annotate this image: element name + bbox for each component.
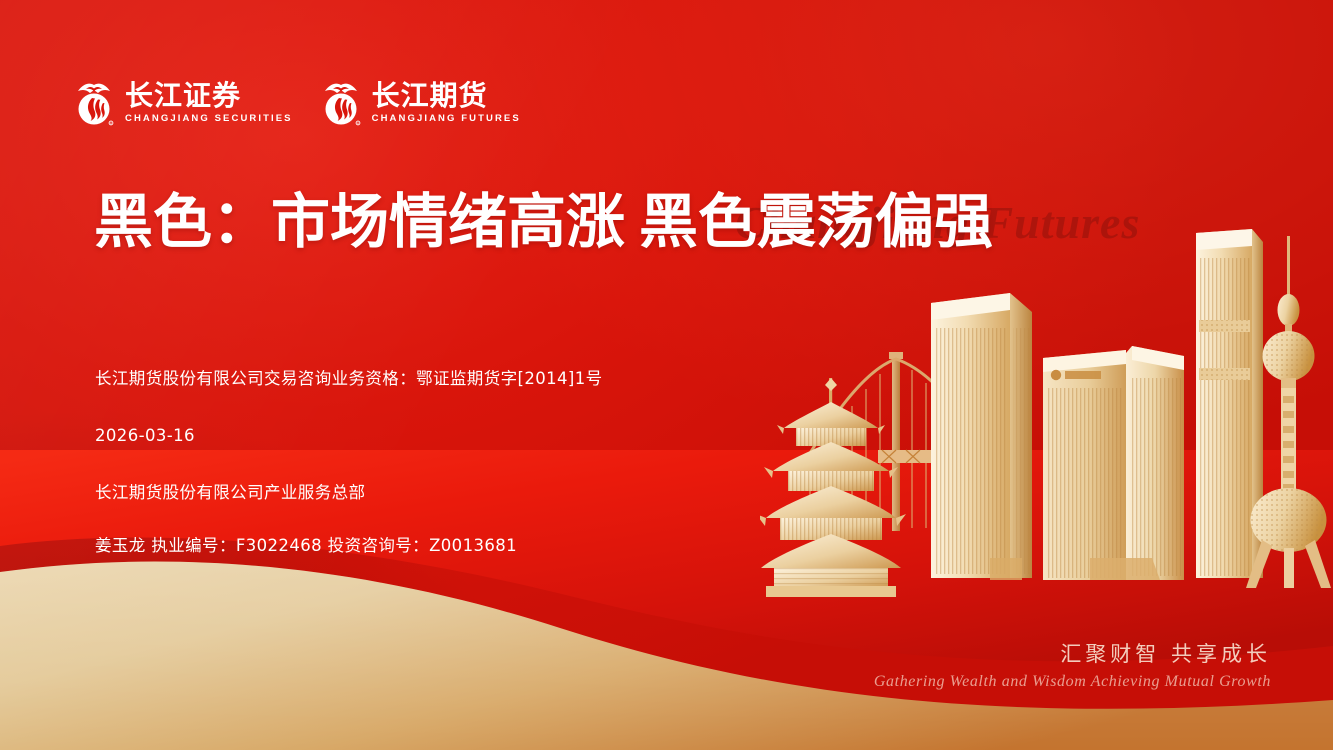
logo-name-en: CHANGJIANG FUTURES xyxy=(372,113,521,125)
slogan-en: Gathering Wealth and Wisdom Achieving Mu… xyxy=(874,670,1271,694)
changjiang-emblem-icon: R xyxy=(72,80,116,126)
slogan-cn: 汇聚财智 共享成长 xyxy=(874,640,1271,668)
building-logo-emblem xyxy=(1051,370,1101,380)
svg-text:R: R xyxy=(357,121,359,125)
logo-changjiang-securities[interactable]: R 长江证券 CHANGJIANG SECURITIES xyxy=(72,80,293,126)
logo-name-en: CHANGJIANG SECURITIES xyxy=(125,113,293,125)
svg-text:R: R xyxy=(110,121,112,125)
presentation-cover-slide: Changjiang Futures xyxy=(0,0,1333,750)
city-skyline-illustration xyxy=(760,228,1333,608)
logo-name-cn: 长江期货 xyxy=(372,81,521,110)
logo-text-group: 长江证券 CHANGJIANG SECURITIES xyxy=(125,81,293,125)
title-line-secondary: 黑色震荡偏强 xyxy=(639,186,993,258)
report-info-block: 长江期货股份有限公司交易咨询业务资格：鄂证监期货字[2014]1号 2026-0… xyxy=(95,368,795,557)
tower-mid-emblem xyxy=(1043,350,1126,580)
logo-text-group: 长江期货 CHANGJIANG FUTURES xyxy=(372,81,521,125)
report-date: 2026-03-16 xyxy=(95,425,795,447)
page-title: 黑色：市场情绪高涨 黑色震荡偏强 xyxy=(94,186,1154,262)
analyst-line: 姜玉龙 执业编号：F3022468 投资咨询号：Z0013681 xyxy=(95,535,795,557)
changjiang-emblem-icon: R xyxy=(319,80,363,126)
tower-left-tall xyxy=(931,293,1032,580)
logo-name-cn: 长江证券 xyxy=(125,81,293,110)
title-line-primary: 黑色：市场情绪高涨 xyxy=(94,186,625,258)
qualification-line: 长江期货股份有限公司交易咨询业务资格：鄂证监期货字[2014]1号 xyxy=(95,368,795,390)
logo-changjiang-futures[interactable]: R 长江期货 CHANGJIANG FUTURES xyxy=(319,80,521,126)
company-slogan: 汇聚财智 共享成长 Gathering Wealth and Wisdom Ac… xyxy=(874,640,1271,694)
department-line: 长江期货股份有限公司产业服务总部 xyxy=(95,482,795,504)
logo-row: R 长江证券 CHANGJIANG SECURITIES R xyxy=(72,80,521,126)
